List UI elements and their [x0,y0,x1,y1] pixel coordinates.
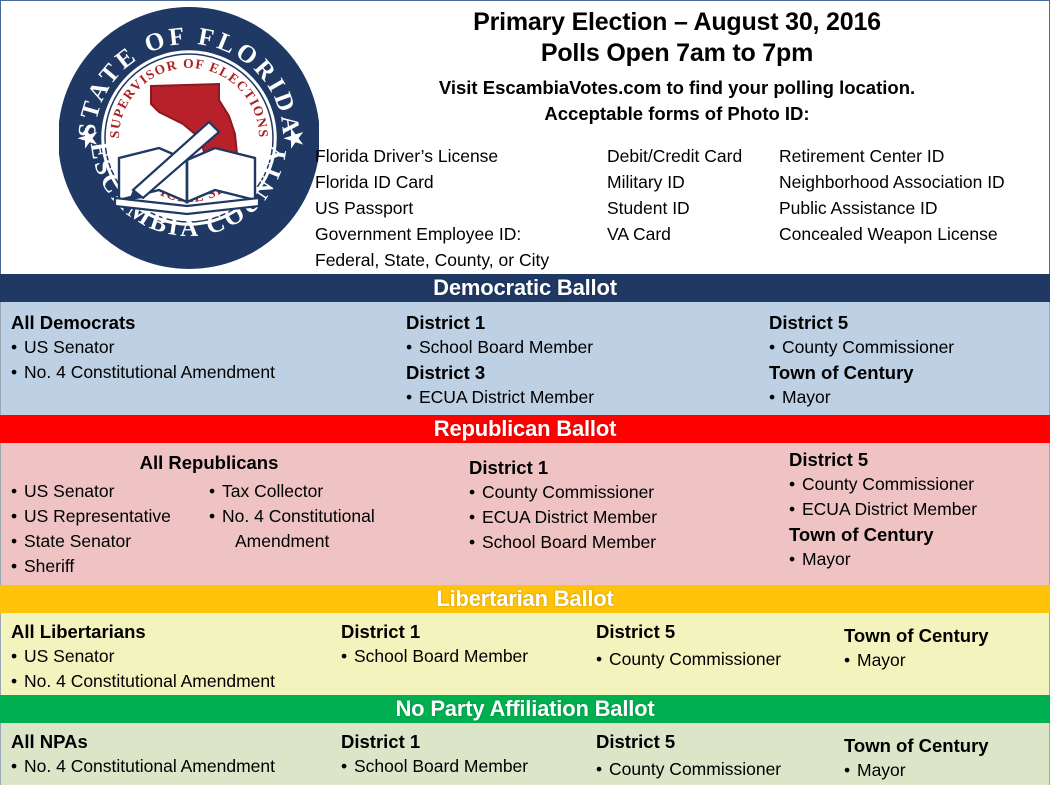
republican-subcolumn-b: Tax Collector No. 4 Constitutional Amend… [209,479,449,554]
group-heading: District 5 [596,729,836,754]
libertarian-column-town-of-century: Town of Century Mayor [844,623,1044,673]
header-text-block: Primary Election – August 30, 2016 Polls… [311,7,1043,127]
photo-id-heading: Acceptable forms of Photo ID: [311,101,1043,127]
npa-ballot-body: All NPAs No. 4 Constitutional Amendment … [0,723,1050,785]
group-heading: District 1 [469,455,769,480]
race-item: No. 4 Constitutional [209,504,449,529]
poster-header: STATE OF FLORIDA ESCAMBIA COUNTY SUPERVI… [0,0,1050,274]
polling-location-notice: Visit EscambiaVotes.com to find your pol… [311,75,1043,101]
photo-id-item: Florida ID Card [315,169,607,195]
race-item: Mayor [844,758,1044,783]
polls-hours: Polls Open 7am to 7pm [311,38,1043,69]
group-heading: District 5 [596,619,836,644]
group-heading: Town of Century [769,360,1044,385]
libertarian-ballot-body: All Libertarians US Senator No. 4 Consti… [0,613,1050,695]
race-item: School Board Member [341,754,591,779]
photo-id-column-2: Debit/Credit Card Military ID Student ID… [607,143,779,273]
race-item: School Board Member [469,530,769,555]
photo-id-item: VA Card [607,221,779,247]
npa-column-town-of-century: Town of Century Mayor [844,733,1044,783]
group-heading: All Democrats [11,310,401,335]
photo-id-column-1: Florida Driver’s License Florida ID Card… [315,143,607,273]
race-item: US Representative [11,504,211,529]
npa-ballot-section: No Party Affiliation Ballot All NPAs No.… [0,695,1050,785]
group-heading: All NPAs [11,729,331,754]
escambia-county-seal: STATE OF FLORIDA ESCAMBIA COUNTY SUPERVI… [59,7,319,269]
race-item: County Commissioner [469,480,769,505]
photo-id-item: Neighborhood Association ID [779,169,1005,195]
libertarian-column-district-1: District 1 School Board Member [341,619,591,669]
republican-ballot-section: Republican Ballot All Republicans US Sen… [0,415,1050,585]
race-item: No. 4 Constitutional Amendment [11,360,401,385]
group-heading: Town of Century [844,733,1044,758]
photo-id-column-3: Retirement Center ID Neighborhood Associ… [779,143,1005,273]
group-heading: District 3 [406,360,756,385]
photo-id-item: Public Assistance ID [779,195,1005,221]
race-item: US Senator [11,479,211,504]
democratic-ballot-band: Democratic Ballot [0,274,1050,302]
election-poster: STATE OF FLORIDA ESCAMBIA COUNTY SUPERVI… [0,0,1050,788]
race-item: County Commissioner [596,757,836,782]
group-heading: District 1 [406,310,756,335]
photo-id-item: Florida Driver’s License [315,143,607,169]
race-item: Mayor [769,385,1044,410]
democratic-ballot-section: Democratic Ballot All Democrats US Senat… [0,274,1050,415]
democratic-column-all-democrats: All Democrats US Senator No. 4 Constitut… [11,310,401,385]
race-item: Tax Collector [209,479,449,504]
race-item: No. 4 Constitutional Amendment [11,754,331,779]
race-item: County Commissioner [596,647,836,672]
npa-column-district-1: District 1 School Board Member [341,729,591,779]
photo-id-item: Federal, State, County, or City [315,247,607,273]
npa-ballot-label: No Party Affiliation Ballot [395,696,654,721]
group-heading: All Libertarians [11,619,331,644]
group-heading: All Republicans [9,450,409,475]
libertarian-column-all-libertarians: All Libertarians US Senator No. 4 Consti… [11,619,331,694]
race-item: ECUA District Member [789,497,1049,522]
photo-id-item: Government Employee ID: [315,221,607,247]
group-heading: District 1 [341,619,591,644]
race-item: ECUA District Member [469,505,769,530]
npa-column-all-npas: All NPAs No. 4 Constitutional Amendment [11,729,331,779]
race-item: Mayor [789,547,1049,572]
libertarian-ballot-section: Libertarian Ballot All Libertarians US S… [0,585,1050,695]
photo-id-item: Concealed Weapon License [779,221,1005,247]
group-heading: District 5 [769,310,1044,335]
libertarian-ballot-band: Libertarian Ballot [0,585,1050,613]
photo-id-item: Debit/Credit Card [607,143,779,169]
seal-graphic: STATE OF FLORIDA ESCAMBIA COUNTY SUPERVI… [59,7,319,269]
republican-subcolumn-a: US Senator US Representative State Senat… [11,479,211,579]
race-item: US Senator [11,644,331,669]
npa-column-district-5: District 5 County Commissioner [596,729,836,782]
race-item: No. 4 Constitutional Amendment [11,669,331,694]
photo-id-item: Student ID [607,195,779,221]
race-item: State Senator [11,529,211,554]
race-item: School Board Member [406,335,756,360]
group-heading: Town of Century [844,623,1044,648]
libertarian-column-district-5: District 5 County Commissioner [596,619,836,672]
republican-column-all-republicans: All Republicans [9,450,449,475]
race-item: County Commissioner [789,472,1049,497]
race-item: County Commissioner [769,335,1044,360]
democratic-ballot-body: All Democrats US Senator No. 4 Constitut… [0,302,1050,415]
republican-column-district-1: District 1 County Commissioner ECUA Dist… [469,455,769,555]
republican-ballot-label: Republican Ballot [434,416,616,441]
election-title: Primary Election – August 30, 2016 [311,7,1043,38]
race-item: School Board Member [341,644,591,669]
group-heading: Town of Century [789,522,1049,547]
photo-id-item: Retirement Center ID [779,143,1005,169]
race-item: US Senator [11,335,401,360]
race-item-continuation: Amendment [209,529,449,554]
democratic-ballot-label: Democratic Ballot [433,275,617,300]
democratic-column-district-5-century: District 5 County Commissioner Town of C… [769,310,1044,410]
race-item: Mayor [844,648,1044,673]
race-item: ECUA District Member [406,385,756,410]
republican-column-district-5-century: District 5 County Commissioner ECUA Dist… [789,447,1049,572]
photo-id-list: Florida Driver’s License Florida ID Card… [315,143,1045,273]
republican-ballot-body: All Republicans US Senator US Representa… [0,443,1050,585]
libertarian-ballot-label: Libertarian Ballot [436,586,613,611]
group-heading: District 5 [789,447,1049,472]
photo-id-item: Military ID [607,169,779,195]
group-heading: District 1 [341,729,591,754]
npa-ballot-band: No Party Affiliation Ballot [0,695,1050,723]
race-item: Sheriff [11,554,211,579]
democratic-column-districts-1-3: District 1 School Board Member District … [406,310,756,410]
photo-id-item: US Passport [315,195,607,221]
republican-ballot-band: Republican Ballot [0,415,1050,443]
